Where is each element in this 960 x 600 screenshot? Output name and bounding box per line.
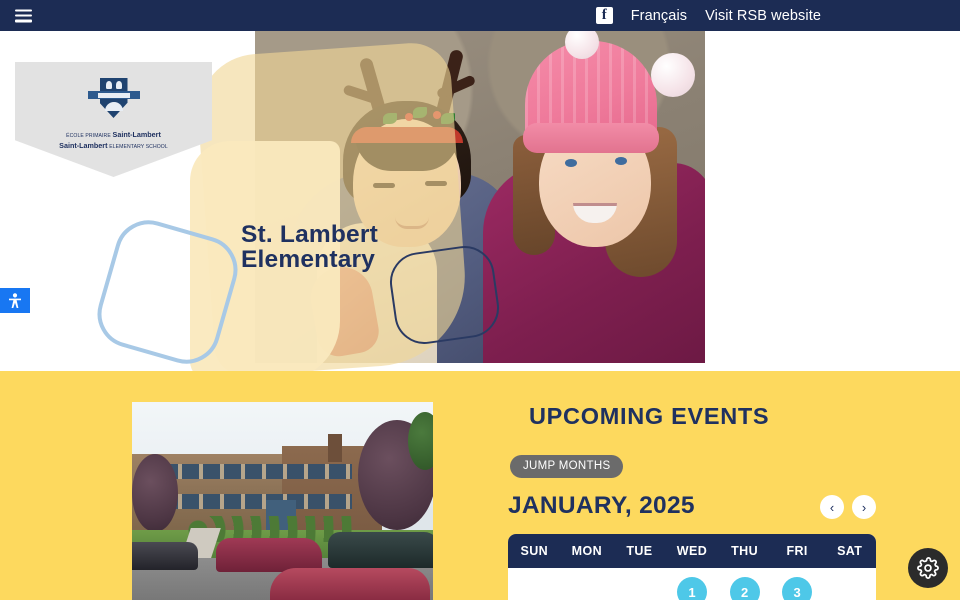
gear-icon — [917, 557, 939, 579]
accessibility-icon[interactable] — [0, 288, 30, 313]
photo-tree — [132, 454, 178, 532]
calendar-header-sun: SUN — [508, 534, 561, 568]
top-navigation-bar: Français Visit RSB website — [0, 0, 960, 31]
hamburger-bar — [15, 14, 32, 17]
school-logo-panel[interactable]: ÉCOLE PRIMAIRE Saint-Lambert Saint-Lambe… — [15, 62, 212, 177]
hamburger-menu-icon[interactable] — [15, 9, 32, 22]
calendar-day-3[interactable]: 3 — [782, 577, 812, 600]
photo-car — [270, 568, 430, 600]
topbar-links: Français Visit RSB website — [596, 0, 821, 31]
calendar-cell-empty — [508, 568, 561, 600]
calendar-header-tue: TUE — [613, 534, 666, 568]
calendar-next-month-button[interactable]: › — [852, 495, 876, 519]
jump-months-button[interactable]: JUMP MONTHS — [510, 455, 623, 478]
hat-brim — [523, 123, 659, 153]
visit-rsb-website-link[interactable]: Visit RSB website — [705, 8, 821, 24]
photo-car — [216, 538, 322, 572]
crest-banner — [88, 91, 140, 99]
hero-title-line1: St. Lambert — [241, 222, 378, 247]
logo-text-line2: Saint-Lambert ELEMENTARY SCHOOL — [59, 141, 168, 152]
child-right-eye — [615, 157, 627, 165]
logo-text-elementary-school: ELEMENTARY SCHOOL — [109, 144, 168, 150]
crest-arc — [105, 102, 123, 111]
settings-gear-button[interactable] — [908, 548, 948, 588]
calendar-cell-empty — [823, 568, 876, 600]
page-root: Français Visit RSB website — [0, 0, 960, 600]
logo-text-saint-lambert-en: Saint-Lambert — [59, 141, 107, 150]
school-crest-icon — [88, 76, 140, 124]
logo-text-line1: ÉCOLE PRIMAIRE Saint-Lambert — [66, 130, 161, 141]
school-building-photo — [132, 402, 433, 600]
hamburger-bar — [15, 9, 32, 12]
photo-chimney — [328, 434, 342, 462]
hat-pompom — [651, 53, 695, 97]
hamburger-bar — [15, 19, 32, 22]
language-link-francais[interactable]: Français — [631, 8, 687, 24]
calendar-month-label: JANUARY, 2025 — [508, 492, 695, 520]
calendar-cell-day: 1 — [666, 568, 719, 600]
accessibility-person-glyph — [8, 293, 22, 309]
calendar-cell-empty — [561, 568, 614, 600]
calendar-day-2[interactable]: 2 — [730, 577, 760, 600]
logo-text-saint-lambert-fr: Saint-Lambert — [113, 130, 161, 139]
events-calendar: SUN MON TUE WED THU FRI SAT 1 2 3 — [508, 534, 876, 600]
crest-fleur — [116, 81, 122, 89]
calendar-prev-month-button[interactable]: ‹ — [820, 495, 844, 519]
calendar-header-wed: WED — [666, 534, 719, 568]
calendar-cell-day: 2 — [718, 568, 771, 600]
photo-car — [132, 542, 198, 570]
calendar-cell-empty — [613, 568, 666, 600]
child-right-eye — [565, 159, 577, 167]
calendar-cell-day: 3 — [771, 568, 824, 600]
calendar-nav-arrows: ‹ › — [820, 495, 876, 519]
hexagon-outline-decoration-dark — [386, 242, 503, 348]
calendar-week-row: 1 2 3 — [508, 568, 876, 600]
crest-fleur — [106, 81, 112, 89]
calendar-header-sat: SAT — [823, 534, 876, 568]
calendar-header-thu: THU — [718, 534, 771, 568]
logo-text-ecole-primaire: ÉCOLE PRIMAIRE — [66, 133, 111, 139]
hero-title-line2: Elementary — [241, 247, 378, 272]
calendar-day-headers: SUN MON TUE WED THU FRI SAT — [508, 534, 876, 568]
calendar-header-fri: FRI — [771, 534, 824, 568]
hero-section: St. Lambert Elementary ÉCOLE PRIMAIRE Sa… — [0, 31, 960, 371]
photo-car — [328, 532, 433, 568]
hero-title: St. Lambert Elementary — [241, 222, 378, 273]
calendar-day-1[interactable]: 1 — [677, 577, 707, 600]
calendar-header-mon: MON — [561, 534, 614, 568]
page-title-upcoming-events: UPCOMING EVENTS — [529, 403, 769, 430]
facebook-icon[interactable] — [596, 7, 613, 24]
